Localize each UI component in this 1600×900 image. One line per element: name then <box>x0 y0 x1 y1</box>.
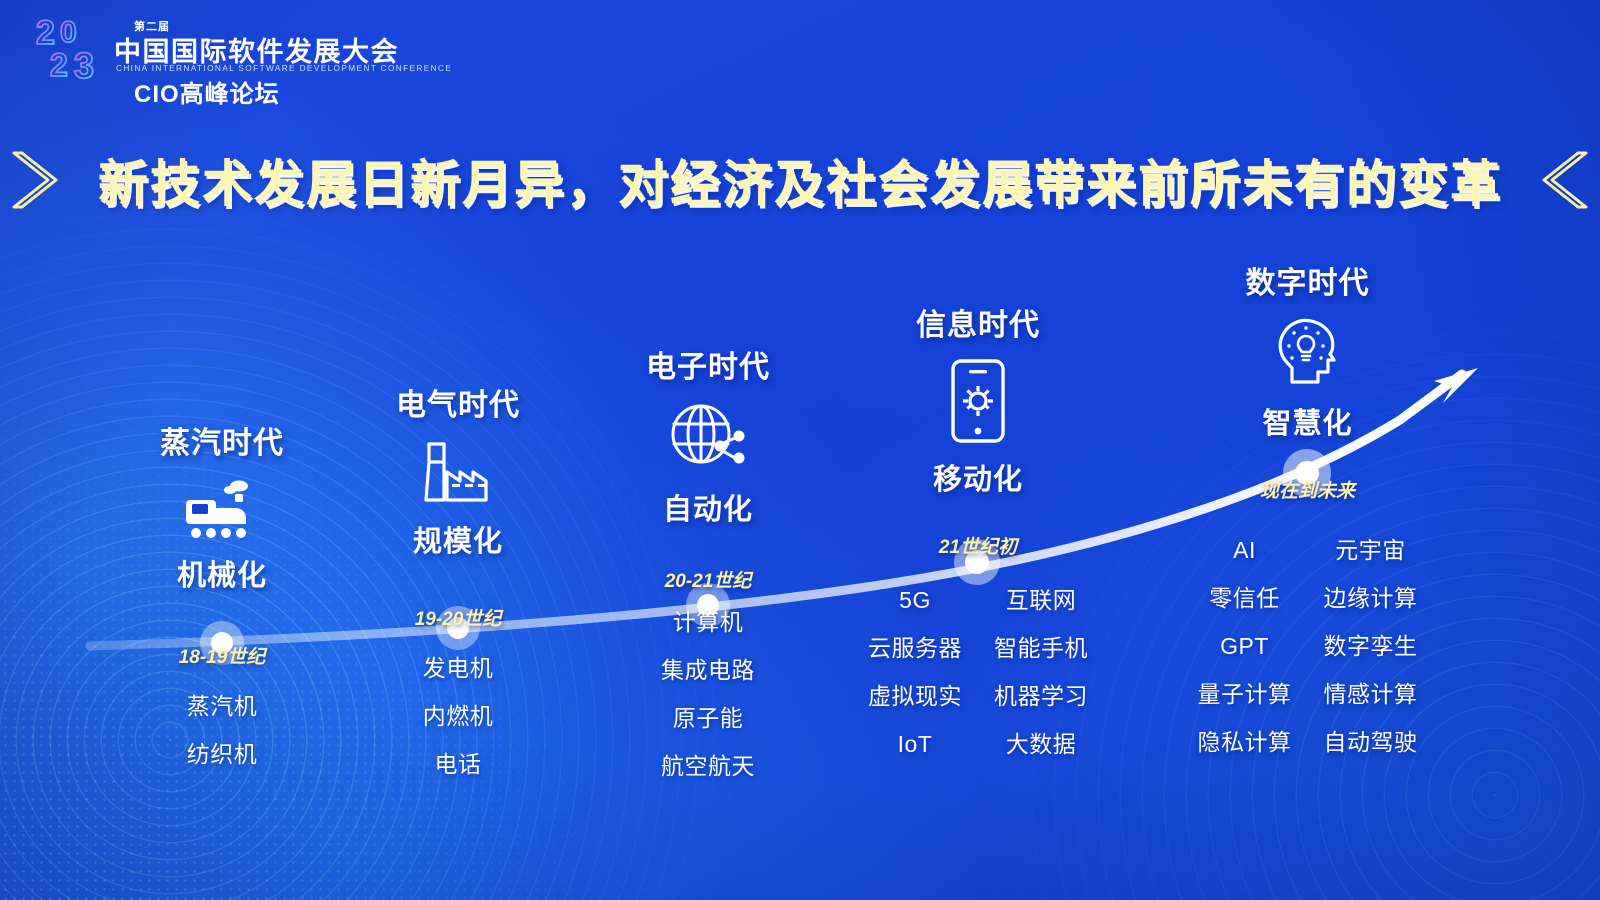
era-4-name: 信息时代 <box>847 300 1109 344</box>
era-1-period: 18-19世纪 <box>102 642 342 669</box>
svg-text:2: 2 <box>50 47 68 82</box>
smartphone-gear-icon <box>947 358 1009 444</box>
slide-title-row: 新技术发展日新月异，对经济及社会发展带来前所未有的变革 <box>0 140 1600 220</box>
svg-text:3: 3 <box>74 45 94 82</box>
era-4-item-2-0: 虚拟现实 <box>852 677 978 711</box>
conference-logo: 2 0 2 3 第二届 中国国际软件发展大会 CHINA INTERNATION… <box>34 8 364 100</box>
logo-conference-en: CHINA INTERNATIONAL SOFTWARE DEVELOPMENT… <box>116 63 452 73</box>
era-3-keyword: 自动化 <box>588 486 828 528</box>
globe-network-icon <box>665 400 751 474</box>
page-title: 新技术发展日新月异，对经济及社会发展带来前所未有的变革 <box>98 144 1502 216</box>
era-4-item-2-1: 机器学习 <box>978 677 1104 711</box>
era-1-item-1-0: 纺织机 <box>187 735 258 769</box>
era-3-item-2-0: 原子能 <box>673 699 744 733</box>
logo-forum: CIO高峰论坛 <box>134 74 280 109</box>
era-4-item-0-1: 互联网 <box>978 581 1104 615</box>
era-5-items: AI元宇宙 零信任边缘计算 GPT数字孪生 量子计算情感计算 隐私计算自动驾驶 <box>1165 531 1450 757</box>
era-5-item-0-1: 元宇宙 <box>1308 531 1434 565</box>
era-5-period: 现在到未来 <box>1165 476 1450 503</box>
steam-locomotive-icon <box>182 476 262 540</box>
era-3-item-3-0: 航空航天 <box>661 747 755 781</box>
era-2-name: 电气时代 <box>338 380 578 424</box>
era-5-item-4-1: 自动驾驶 <box>1308 723 1434 757</box>
chevron-right-icon <box>12 149 64 211</box>
era-4-item-0-0: 5G <box>852 587 978 614</box>
era-5-item-2-1: 数字孪生 <box>1308 627 1434 661</box>
era-3-item-0-0: 计算机 <box>673 603 744 637</box>
era-4-items: 5G互联网 云服务器智能手机 虚拟现实机器学习 IoT大数据 <box>847 581 1109 759</box>
era-5-item-1-0: 零信任 <box>1182 579 1308 613</box>
era-column-4[interactable]: 信息时代 移动化 21世纪初 5G互联网 云服务器智能手机 虚拟现实机器学习 I… <box>847 300 1109 773</box>
era-5-item-1-1: 边缘计算 <box>1308 579 1434 613</box>
era-4-keyword: 移动化 <box>847 456 1109 498</box>
era-4-item-1-0: 云服务器 <box>852 629 978 663</box>
era-3-items: 计算机 集成电路 原子能 航空航天 <box>588 603 828 781</box>
era-4-item-3-0: IoT <box>852 731 978 758</box>
era-column-2[interactable]: 电气时代 规模化 19-20世纪 发电机 内燃机 电话 <box>338 380 578 793</box>
era-column-5[interactable]: 数字时代 智慧化 现在到未来 AI元宇宙 零信任边缘计算 GPT数字孪生 量子计… <box>1165 258 1450 771</box>
era-5-name: 数字时代 <box>1165 258 1450 302</box>
era-4-period: 21世纪初 <box>847 532 1109 559</box>
era-3-name: 电子时代 <box>588 342 828 386</box>
era-5-keyword: 智慧化 <box>1165 400 1450 442</box>
era-1-keyword: 机械化 <box>102 552 342 594</box>
era-2-period: 19-20世纪 <box>338 604 578 631</box>
era-3-period: 20-21世纪 <box>588 566 828 593</box>
chevron-left-icon <box>1536 149 1588 211</box>
era-4-item-3-1: 大数据 <box>978 725 1104 759</box>
era-column-1[interactable]: 蒸汽时代 机械化 18-19世纪 蒸汽机 纺织机 <box>102 418 342 783</box>
era-5-item-2-0: GPT <box>1182 633 1308 660</box>
era-2-items: 发电机 内燃机 电话 <box>338 649 578 779</box>
era-5-item-3-1: 情感计算 <box>1308 675 1434 709</box>
era-2-item-2-0: 电话 <box>435 745 482 779</box>
factory-icon <box>417 438 499 506</box>
era-1-item-0-0: 蒸汽机 <box>187 687 258 721</box>
head-lightbulb-icon <box>1268 316 1348 390</box>
era-1-name: 蒸汽时代 <box>102 418 342 462</box>
era-5-item-0-0: AI <box>1182 537 1308 564</box>
era-5-item-4-0: 隐私计算 <box>1182 723 1308 757</box>
year-2023-icon: 2 0 2 3 <box>34 14 114 82</box>
era-column-3[interactable]: 电子时代 自动化 20-21世纪 计算机 集成电路 原子能 航空航天 <box>588 342 828 795</box>
era-2-item-1-0: 内燃机 <box>423 697 494 731</box>
era-2-item-0-0: 发电机 <box>423 649 494 683</box>
era-4-item-1-1: 智能手机 <box>978 629 1104 663</box>
era-2-keyword: 规模化 <box>338 518 578 560</box>
era-1-items: 蒸汽机 纺织机 <box>102 687 342 769</box>
era-5-item-3-0: 量子计算 <box>1182 675 1308 709</box>
era-3-item-1-0: 集成电路 <box>661 651 755 685</box>
